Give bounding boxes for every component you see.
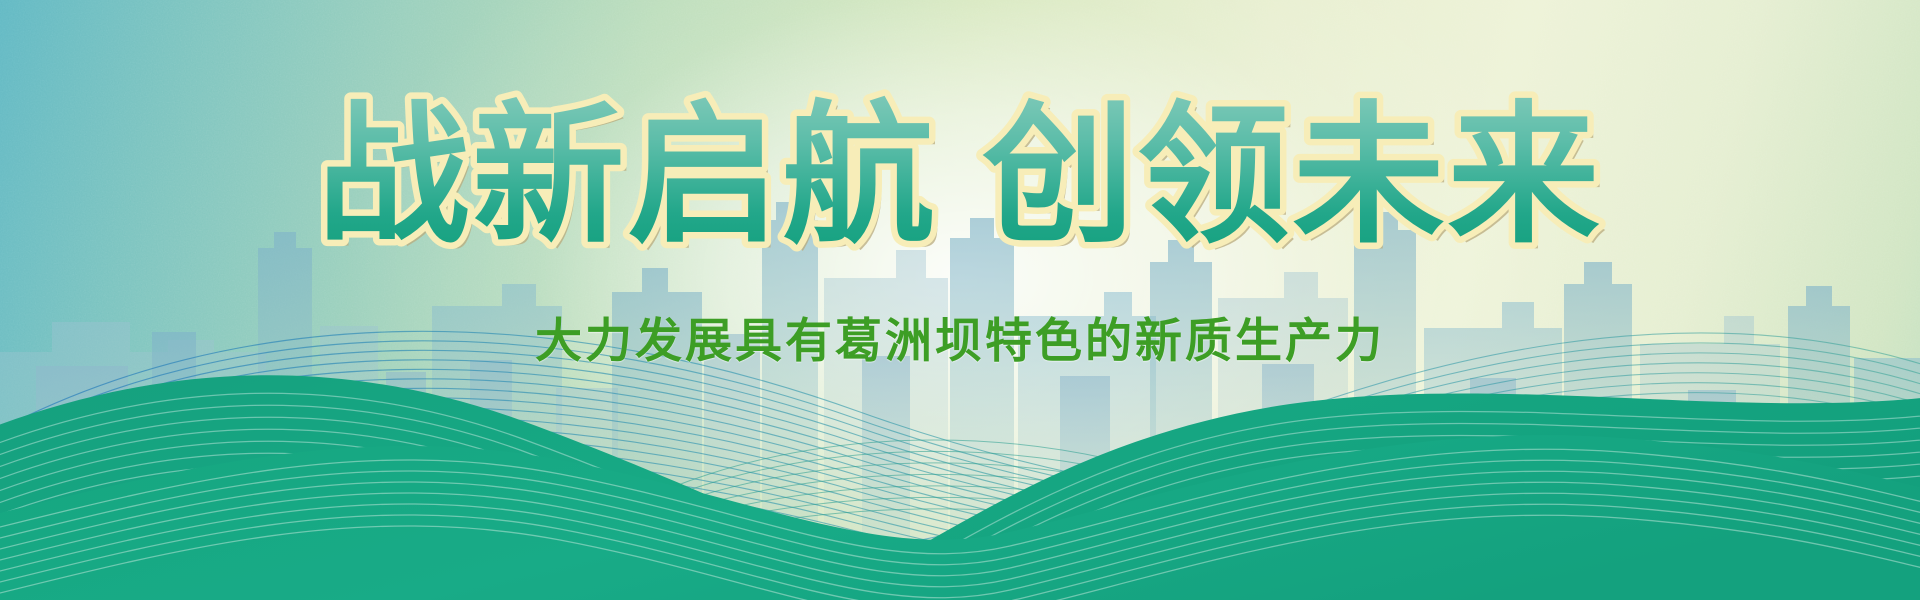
headline-text: 战新启航 创领未来 bbox=[317, 91, 1602, 261]
headline-shadow: 战新启航 创领未来 bbox=[323, 97, 1608, 267]
banner-root: 战新启航 创领未来 战新启航 创领未来 战新启航 创领未来 大力发展具有葛洲坝特… bbox=[0, 0, 1920, 600]
headline-outline: 战新启航 创领未来 bbox=[317, 91, 1602, 261]
city-skyline-silhouette bbox=[0, 120, 1920, 540]
grain-texture-overlay bbox=[0, 0, 1920, 600]
subtitle-text: 大力发展具有葛洲坝特色的新质生产力 bbox=[0, 302, 1920, 371]
layered-line-waves bbox=[0, 260, 1920, 600]
headline-svg: 战新启航 创领未来 战新启航 创领未来 战新启航 创领未来 bbox=[0, 62, 1920, 292]
rolling-green-hills bbox=[0, 300, 1920, 600]
text-content-block: 战新启航 创领未来 战新启航 创领未来 战新启航 创领未来 大力发展具有葛洲坝特… bbox=[0, 0, 1920, 600]
